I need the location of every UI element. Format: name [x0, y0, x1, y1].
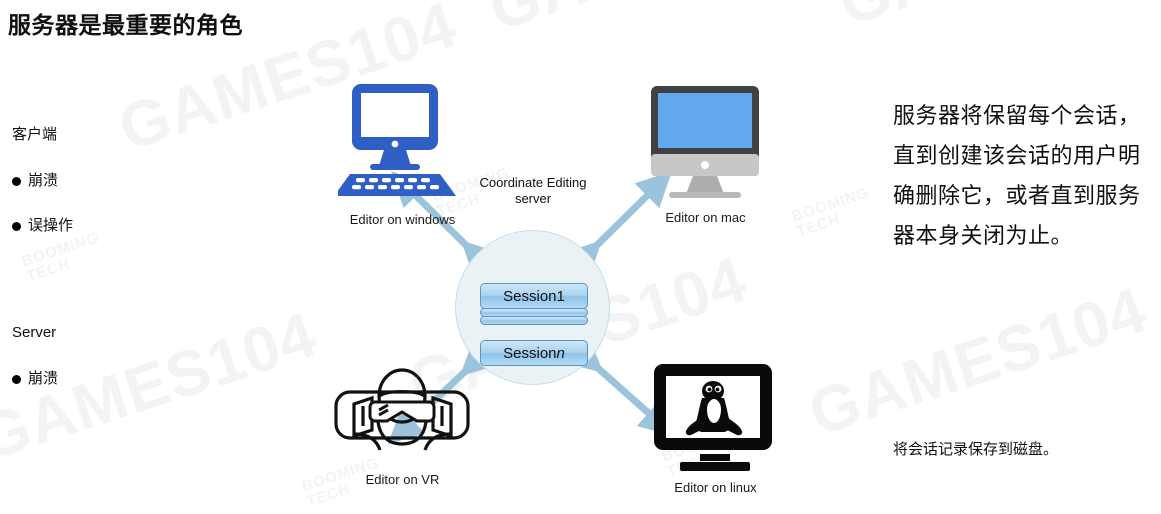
bullet-icon — [12, 222, 21, 231]
list-item: 崩溃 — [12, 171, 242, 191]
session-persistence-note: 将会话记录保存到磁盘。 — [893, 440, 1155, 460]
client-node-vr[interactable] — [330, 360, 475, 470]
watermark-games104: GAMES104 — [830, 0, 1161, 40]
session-label-prefix: Session — [503, 345, 556, 362]
client-label-mac: Editor on mac — [638, 210, 773, 225]
server-item-label: 崩溃 — [28, 369, 58, 389]
client-heading: 客户端 — [12, 125, 242, 145]
server-title-line2: server — [515, 191, 551, 206]
client-item-label: 误操作 — [28, 216, 73, 236]
architecture-diagram: Coordinate Editing server Session1 Sessi… — [260, 40, 880, 514]
page-title: 服务器是最重要的角色 — [8, 6, 243, 40]
left-notes-column: 客户端 崩溃 误操作 Server 崩溃 — [12, 125, 242, 414]
list-item: 误操作 — [12, 216, 242, 236]
watermark-games104: GAMES104 — [480, 0, 835, 45]
imac-monitor-icon — [643, 82, 768, 204]
session-box[interactable]: Session1 — [480, 283, 588, 309]
desktop-monitor-keyboard-icon — [338, 82, 466, 207]
session-box-slab — [480, 316, 588, 325]
client-label-vr: Editor on VR — [320, 472, 485, 487]
server-title: Coordinate Editing server — [452, 175, 614, 207]
spacer — [12, 261, 242, 323]
vr-headset-person-icon — [330, 360, 475, 470]
client-label-windows: Editor on windows — [320, 212, 485, 227]
client-item-label: 崩溃 — [28, 171, 58, 191]
server-description-paragraph: 服务器将保留每个会话，直到创建该会话的用户明确删除它，或者直到服务器本身关闭为止… — [893, 96, 1155, 256]
bullet-icon — [12, 177, 21, 186]
session-stack-first[interactable]: Session1 — [480, 283, 588, 325]
session-box[interactable]: Session n — [480, 340, 588, 366]
session-label-index: n — [557, 345, 565, 362]
server-heading: Server — [12, 323, 242, 343]
session-stack-nth[interactable]: Session n — [480, 340, 588, 366]
monitor-penguin-icon — [650, 362, 780, 477]
client-node-windows[interactable] — [338, 82, 466, 207]
bullet-icon — [12, 375, 21, 384]
client-node-mac[interactable] — [643, 82, 768, 204]
list-item: 崩溃 — [12, 369, 242, 389]
client-label-linux: Editor on linux — [638, 480, 793, 495]
server-title-line1: Coordinate Editing — [480, 175, 587, 190]
client-node-linux[interactable] — [650, 362, 780, 477]
